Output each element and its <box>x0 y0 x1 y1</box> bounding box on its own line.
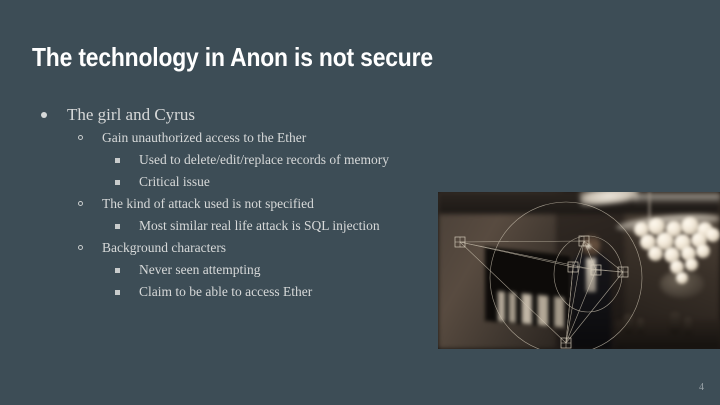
bullet-filled-square-icon <box>115 180 120 185</box>
list-item-label: Never seen attempting <box>139 259 470 281</box>
overlay-tracking-ellipse <box>554 236 622 312</box>
list-item: Used to delete/edit/replace records of m… <box>0 149 470 171</box>
page-number: 4 <box>699 382 704 393</box>
list-item-label: Claim to be able to access Ether <box>139 281 470 303</box>
list-item-label: Gain unauthorized access to the Ether <box>102 127 470 149</box>
overlay-tracking-circle <box>490 202 642 349</box>
list-item: Critical issue <box>0 171 470 193</box>
overlay-crosshair-mid-left <box>568 262 578 272</box>
overlay-link-g <box>584 241 596 270</box>
bullet-hollow-circle-icon <box>78 201 83 206</box>
bullet-filled-square-icon <box>115 158 120 163</box>
bullet-hollow-circle-icon <box>78 135 83 140</box>
overlay-crosshair-top-center <box>579 236 589 246</box>
bullet-filled-square-icon <box>115 268 120 273</box>
list-item-label: Used to delete/edit/replace records of m… <box>139 149 470 171</box>
presentation-slide: The technology in Anon is not secure The… <box>0 0 720 405</box>
list-item: The kind of attack used is not specified <box>0 193 470 215</box>
list-item: Never seen attempting <box>0 259 470 281</box>
overlay-crosshair-mid-right <box>618 267 628 277</box>
bullet-filled-circle-icon <box>41 112 47 118</box>
list-item-label: The kind of attack used is not specified <box>102 193 470 215</box>
overlay-link-d <box>566 241 623 343</box>
list-item: Background characters <box>0 237 470 259</box>
overlay-triangle <box>460 241 584 343</box>
list-item-label: Background characters <box>102 237 470 259</box>
list-item: Most similar real life attack is SQL inj… <box>0 215 470 237</box>
overlay-crosshair-mid-center <box>591 265 601 275</box>
list-item-label: Critical issue <box>139 171 470 193</box>
slide-image <box>438 192 720 349</box>
bullet-filled-square-icon <box>115 290 120 295</box>
slide-body-list: The girl and Cyrus Gain unauthorized acc… <box>0 103 470 303</box>
list-item-label: Most similar real life attack is SQL inj… <box>139 215 470 237</box>
list-item: Claim to be able to access Ether <box>0 281 470 303</box>
list-item: The girl and Cyrus <box>0 103 470 127</box>
slide-title: The technology in Anon is not secure <box>32 42 595 72</box>
list-item-label: The girl and Cyrus <box>67 103 470 127</box>
overlay-link-e <box>573 267 623 272</box>
tracking-overlay <box>438 192 720 349</box>
overlay-link-b <box>460 242 623 272</box>
list-item: Gain unauthorized access to the Ether <box>0 127 470 149</box>
overlay-link-a <box>460 242 573 343</box>
bullet-hollow-circle-icon <box>78 245 83 250</box>
bullet-filled-square-icon <box>115 224 120 229</box>
